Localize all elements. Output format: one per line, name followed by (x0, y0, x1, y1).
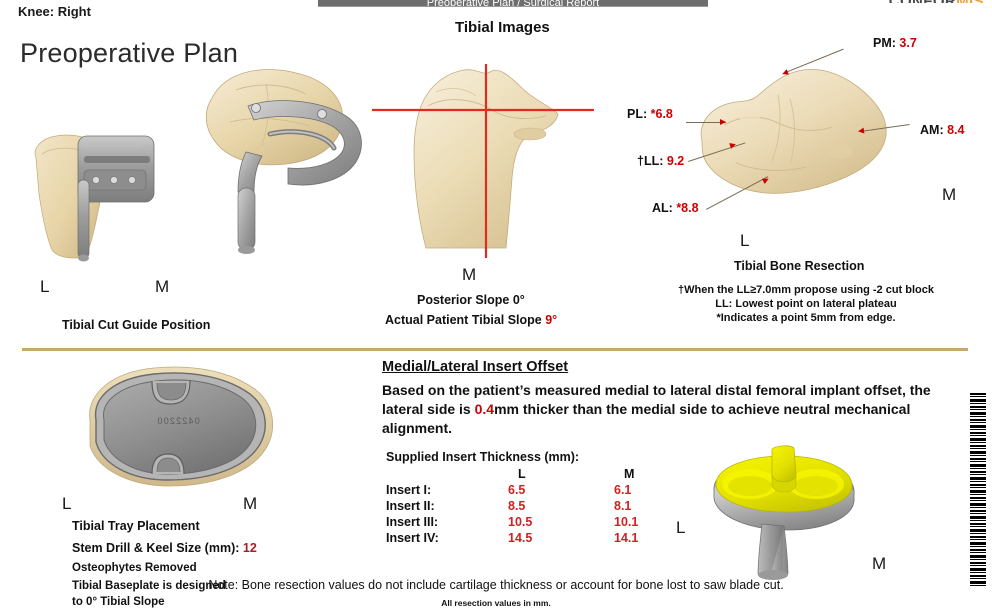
arrow-am (858, 128, 865, 135)
resection-label-pm: PM: 3.7 (873, 36, 917, 50)
stem-drill-value: 12 (243, 541, 257, 555)
insert-row-2-label: Insert II: (386, 498, 490, 514)
insert-medial-label: M (872, 554, 886, 574)
resection-footnotes: †When the LL≥7.0mm propose using -2 cut … (620, 284, 992, 325)
cut-guide-caption: Tibial Cut Guide Position (62, 318, 210, 332)
tibial-resection-render (690, 55, 900, 230)
insert-row-2-lateral: 8.5 (490, 498, 596, 514)
insert-row-1-medial: 6.1 (596, 482, 702, 498)
supplied-insert-thickness-table: Supplied Insert Thickness (mm): L M Inse… (386, 450, 702, 546)
insert-offset-heading: Medial/Lateral Insert Offset (382, 359, 568, 375)
resection-label-al: AL: *8.8 (652, 201, 699, 215)
insert-lateral-label: L (676, 518, 685, 538)
actual-slope-text: Actual Patient Tibial Slope (385, 313, 545, 327)
header-bar-text: Preoperative Plan / Surgical Report (427, 0, 599, 7)
insert-row-3-medial: 10.1 (596, 514, 702, 530)
window-header-bar: Preoperative Plan / Surgical Report (318, 0, 708, 7)
insert-table-header-medial: M (596, 466, 702, 482)
resection-ll-name: †LL: (637, 154, 663, 168)
cut-guide-medial-label: M (155, 277, 169, 297)
slope-medial-label: M (462, 265, 476, 285)
resection-values-note: Note: Bone resection values do not inclu… (0, 578, 992, 592)
document-barcode (970, 393, 986, 587)
tray-lateral-label: L (62, 494, 71, 514)
actual-slope-value: 9° (545, 313, 557, 327)
offset-value: 0.4 (475, 401, 494, 417)
tibial-cut-guide-render-superior (170, 60, 370, 265)
tibial-tray-render: 0422200 (72, 362, 284, 492)
insert-row-3-lateral: 10.5 (490, 514, 596, 530)
resection-footnote-1: †When the LL≥7.0mm propose using -2 cut … (620, 284, 992, 298)
insert-row-4-label: Insert IV: (386, 530, 490, 546)
table-row: Insert II: 8.5 8.1 (386, 498, 702, 514)
osteophytes-removed-label: Osteophytes Removed (72, 562, 197, 574)
insert-row-2-medial: 8.1 (596, 498, 702, 514)
tray-part-number: 0422200 (156, 416, 199, 426)
stem-drill-keel-size: Stem Drill & Keel Size (mm): 12 (72, 541, 257, 555)
resection-al-name: AL: (652, 201, 673, 215)
resection-label-am: AM: 8.4 (920, 123, 964, 137)
conformis-logo: CONFORMIS (889, 0, 984, 3)
logo-accent-text: MIS (956, 0, 984, 3)
resection-pm-value: 3.7 (899, 36, 916, 50)
insert-table-header-row: L M (386, 466, 702, 482)
resection-medial-label: M (942, 185, 956, 205)
resection-pl-name: PL: (627, 107, 647, 121)
resection-pm-name: PM: (873, 36, 896, 50)
insert-table-header-lateral: L (490, 466, 596, 482)
resection-caption: Tibial Bone Resection (734, 259, 864, 273)
tibial-cut-guide-render-anterior (22, 110, 172, 265)
knee-side-label: Knee: Right (18, 4, 91, 19)
arrow-pl (720, 119, 726, 125)
table-row: Insert I: 6.5 6.1 (386, 482, 702, 498)
units-note: All resection values in mm. (0, 598, 992, 608)
actual-tibial-slope-label: Actual Patient Tibial Slope 9° (385, 313, 557, 327)
posterior-slope-label: Posterior Slope 0° (417, 293, 525, 307)
cut-guide-lateral-label: L (40, 277, 49, 297)
resection-am-value: 8.4 (947, 123, 964, 137)
insert-baseplate-render (700, 442, 880, 582)
resection-ll-value: 9.2 (667, 154, 684, 168)
resection-footnote-3: *Indicates a point 5mm from edge. (620, 312, 992, 326)
resection-lateral-label: L (740, 231, 749, 251)
insert-offset-description: Based on the patient’s measured medial t… (382, 381, 972, 438)
insert-row-3-label: Insert III: (386, 514, 490, 530)
tibial-images-heading: Tibial Images (455, 19, 550, 36)
tray-medial-label: M (243, 494, 257, 514)
insert-row-4-lateral: 14.5 (490, 530, 596, 546)
resection-footnote-2: LL: Lowest point on lateral plateau (620, 298, 992, 312)
section-divider (22, 348, 968, 351)
insert-row-4-medial: 14.1 (596, 530, 702, 546)
resection-label-ll: †LL: 9.2 (637, 154, 684, 168)
resection-am-name: AM: (920, 123, 944, 137)
table-row: Insert IV: 14.5 14.1 (386, 530, 702, 546)
table-row: Insert III: 10.5 10.1 (386, 514, 702, 530)
resection-al-value: *8.8 (676, 201, 698, 215)
insert-row-1-label: Insert I: (386, 482, 490, 498)
insert-table-caption: Supplied Insert Thickness (mm): (386, 450, 702, 466)
stem-drill-label: Stem Drill & Keel Size (mm): (72, 541, 243, 555)
logo-main-text: CONFOR (889, 0, 956, 3)
insert-row-1-lateral: 6.5 (490, 482, 596, 498)
tibial-slope-render (380, 58, 600, 263)
resection-pl-value: *6.8 (651, 107, 673, 121)
insert-table-header-blank (386, 466, 490, 482)
tray-caption: Tibial Tray Placement (72, 519, 200, 533)
resection-label-pl: PL: *6.8 (627, 107, 673, 121)
